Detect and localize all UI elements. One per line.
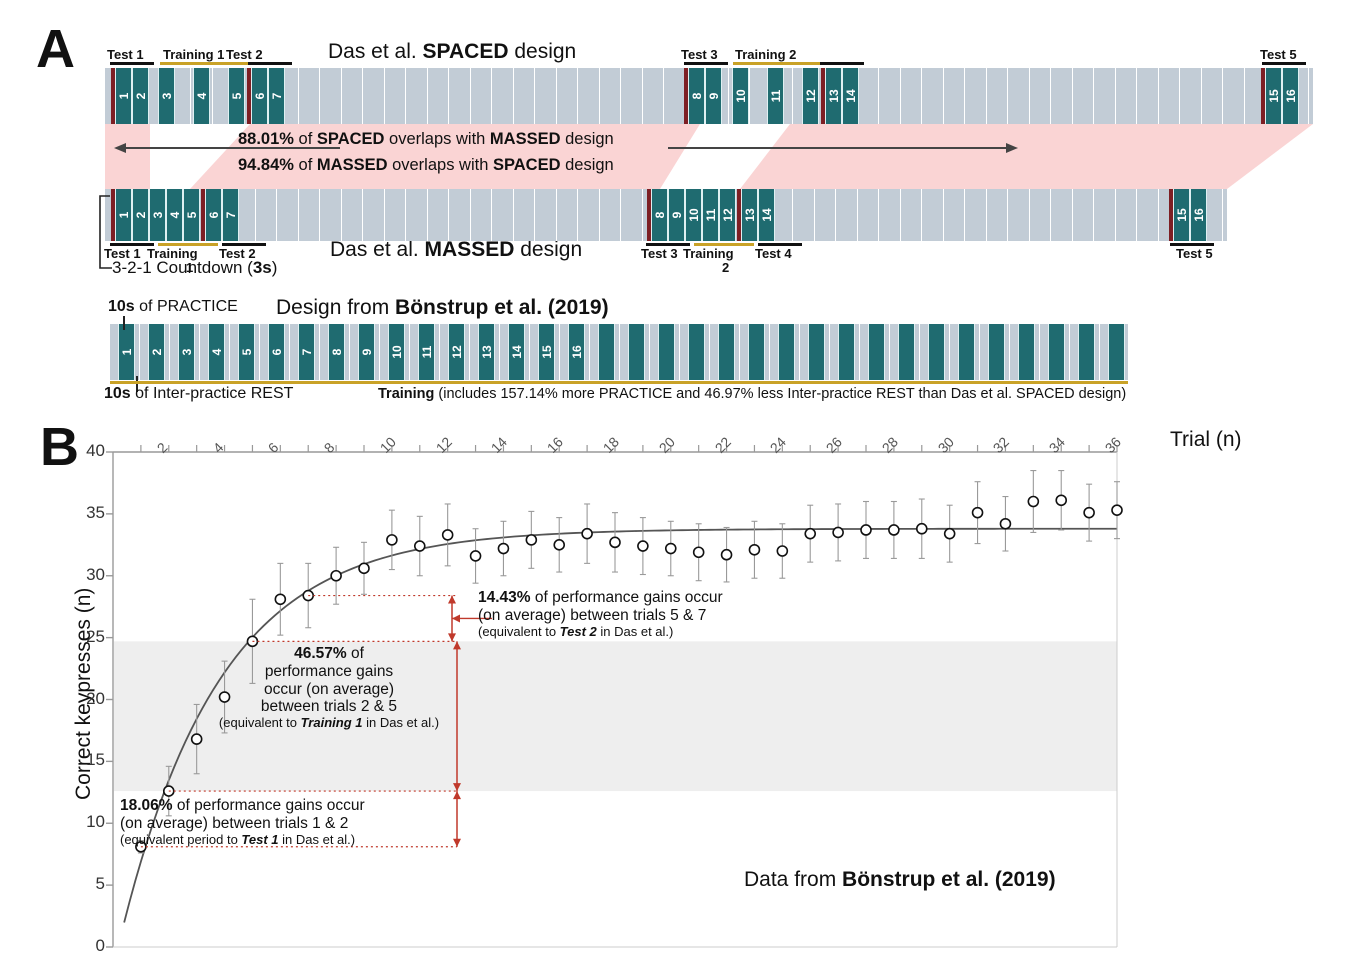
practice-block[interactable]: 1 xyxy=(115,68,132,124)
practice-block[interactable]: 4 xyxy=(166,189,183,241)
practice-block[interactable]: 1 xyxy=(115,189,132,241)
rest-slot xyxy=(514,189,536,241)
practice-block-number: 12 xyxy=(450,345,464,358)
practice-block[interactable] xyxy=(688,324,705,380)
countdown-marker xyxy=(821,68,825,124)
rest-slot xyxy=(428,68,450,124)
annotation-18-06-eq: (equivalent period to Test 1 in Das et a… xyxy=(120,833,466,848)
practice-block[interactable]: 10 xyxy=(732,68,749,124)
rest-slot xyxy=(815,189,837,241)
practice-block-number: 9 xyxy=(707,93,721,100)
rest-slot xyxy=(1116,189,1138,241)
practice-block-number: 14 xyxy=(760,208,774,221)
x-tick-label: 26 xyxy=(823,434,845,456)
practice-block-number: 11 xyxy=(420,346,434,359)
practice-block-number: 7 xyxy=(270,93,284,100)
practice-block[interactable]: 9 xyxy=(705,68,722,124)
practice-block[interactable]: 4 xyxy=(193,68,210,124)
massed-label-training-2: Training xyxy=(683,246,734,261)
overlap-pct-2: 94.84% xyxy=(238,156,294,174)
practice-block-number: 15 xyxy=(540,345,554,358)
massed-design-title: Das et al. MASSED design xyxy=(330,238,582,262)
rest-slot xyxy=(987,189,1009,241)
practice-block-number: 4 xyxy=(195,93,209,100)
practice-block[interactable]: 10 xyxy=(388,324,405,380)
practice-block-number: 16 xyxy=(1284,89,1298,102)
massed-title-suffix: design xyxy=(514,238,582,261)
x-tick-label: 34 xyxy=(1046,434,1068,456)
rest-slot xyxy=(557,189,579,241)
massed-label-test-3: Test 3 xyxy=(641,246,678,261)
spaced-training2-bar xyxy=(733,62,825,65)
x-tick-label: 28 xyxy=(879,434,901,456)
data-point[interactable] xyxy=(861,525,871,535)
practice-block[interactable]: 3 xyxy=(158,68,175,124)
rest-slot xyxy=(492,68,514,124)
data-point[interactable] xyxy=(192,734,202,744)
overlap-arrow-right-head xyxy=(1006,143,1018,153)
practice-block[interactable]: 5 xyxy=(183,189,200,241)
massed-label-test-1: Test 1 xyxy=(104,246,141,261)
x-tick-label: 36 xyxy=(1102,434,1124,456)
practice-block[interactable]: 15 xyxy=(1265,68,1282,124)
rest-slot xyxy=(1073,68,1095,124)
rest-slot xyxy=(858,68,880,124)
arrow-14-43-leader-head xyxy=(452,614,460,622)
practice-block[interactable] xyxy=(1018,324,1035,380)
rest-slot xyxy=(535,189,557,241)
practice-block[interactable]: 16 xyxy=(1282,68,1299,124)
practice-block[interactable]: 16 xyxy=(1190,189,1207,241)
spaced-title-prefix: Das et al. xyxy=(328,40,423,63)
overlap-pct-1: 88.01% xyxy=(238,130,294,148)
rest-slot xyxy=(1051,189,1073,241)
data-point[interactable] xyxy=(1112,505,1122,515)
data-point[interactable] xyxy=(498,544,508,554)
training-note: Training (includes 157.14% more PRACTICE… xyxy=(378,386,1126,402)
rest-slot xyxy=(256,189,278,241)
practice-block[interactable]: 5 xyxy=(238,324,255,380)
practice-block[interactable]: 5 xyxy=(228,68,245,124)
practice-block-number: 15 xyxy=(1267,89,1281,102)
practice-block-number: 13 xyxy=(743,208,757,221)
rest-slot xyxy=(1094,68,1116,124)
practice-block[interactable] xyxy=(628,324,645,380)
practice-block[interactable] xyxy=(838,324,855,380)
rest-slot xyxy=(428,189,450,241)
practice-block-number: 13 xyxy=(827,89,841,102)
practice-block-number: 10 xyxy=(734,89,748,102)
annotation-46-57-line2: performance gains xyxy=(196,663,462,681)
data-point[interactable] xyxy=(833,527,843,537)
practice-block[interactable]: 13 xyxy=(478,324,495,380)
x-tick-label: 10 xyxy=(377,434,399,456)
rest-slot xyxy=(471,189,493,241)
annotation-46-57-line3: occur (on average) xyxy=(196,681,462,699)
rest-slot xyxy=(1030,68,1052,124)
rest-slot xyxy=(1137,189,1159,241)
data-point[interactable] xyxy=(610,537,620,547)
x-tick-label: 8 xyxy=(321,439,338,456)
rest-slot xyxy=(342,68,364,124)
practice-block[interactable]: 12 xyxy=(719,189,736,241)
data-point[interactable] xyxy=(526,535,536,545)
x-tick-label: 16 xyxy=(544,434,566,456)
x-tick-label: 32 xyxy=(990,434,1012,456)
x-tick-label: 30 xyxy=(934,434,956,456)
rest-slot xyxy=(944,68,966,124)
data-point[interactable] xyxy=(331,571,341,581)
practice-block-number: 3 xyxy=(151,212,165,219)
rest-slot xyxy=(793,189,815,241)
practice-block-number: 4 xyxy=(210,349,224,356)
rest-slot xyxy=(901,189,923,241)
practice-block[interactable]: 11 xyxy=(702,189,719,241)
y-tick-label: 15 xyxy=(61,750,105,770)
rest-slot xyxy=(363,68,385,124)
massed-title-prefix: Das et al. xyxy=(330,238,425,261)
y-tick-label: 30 xyxy=(61,565,105,585)
rest-slot xyxy=(492,189,514,241)
rest-slot xyxy=(514,68,536,124)
practice-block[interactable]: 9 xyxy=(358,324,375,380)
practice-block[interactable]: 4 xyxy=(208,324,225,380)
practice-block[interactable] xyxy=(898,324,915,380)
rest-slot xyxy=(1180,68,1202,124)
rest-slot xyxy=(879,68,901,124)
y-tick-label: 20 xyxy=(61,689,105,709)
rest-slot xyxy=(535,68,557,124)
rest-slot xyxy=(965,189,987,241)
countdown-marker xyxy=(111,189,115,241)
annotation-14-43-line1: 14.43% of performance gains occur xyxy=(478,589,778,607)
panel-a-letter: A xyxy=(36,22,75,76)
rest-slot xyxy=(299,189,321,241)
data-point[interactable] xyxy=(777,546,787,556)
bonstrup-title-bold: Bönstrup et al. (2019) xyxy=(395,296,609,319)
rest-slot xyxy=(1073,189,1095,241)
overlap-text-line1: 88.01% of SPACED overlaps with MASSED de… xyxy=(238,130,614,149)
countdown-marker xyxy=(1169,189,1173,241)
spaced-label-test-1: Test 1 xyxy=(107,47,144,62)
practice-block[interactable] xyxy=(928,324,945,380)
practice-block-number: 16 xyxy=(1192,208,1206,221)
data-point[interactable] xyxy=(1028,497,1038,507)
practice-block[interactable]: 2 xyxy=(132,68,149,124)
data-point[interactable] xyxy=(582,529,592,539)
practice-block-number: 4 xyxy=(168,212,182,219)
annotation-18-06: 18.06% of performance gains occur (on av… xyxy=(120,797,466,848)
practice-block[interactable]: 3 xyxy=(178,324,195,380)
practice-block[interactable]: 15 xyxy=(1173,189,1190,241)
y-tick-label: 35 xyxy=(61,503,105,523)
data-point[interactable] xyxy=(164,786,174,796)
spaced-test1-bar xyxy=(110,62,154,65)
practice-block-number: 7 xyxy=(224,212,238,219)
massed-label-test-2: Test 2 xyxy=(219,246,256,261)
data-point[interactable] xyxy=(275,594,285,604)
practice-block-number: 10 xyxy=(390,345,404,358)
y-tick-label: 5 xyxy=(61,874,105,894)
x-tick-label: 12 xyxy=(432,434,454,456)
rest-slot xyxy=(621,68,643,124)
practice-block[interactable] xyxy=(1078,324,1095,380)
annotation-46-57-line4: between trials 2 & 5 xyxy=(196,698,462,716)
overlap-arrow-left-head xyxy=(114,143,126,153)
practice-block-number: 6 xyxy=(207,212,221,219)
practice-block[interactable]: 9 xyxy=(668,189,685,241)
practice-block[interactable] xyxy=(1048,324,1065,380)
rest-slot xyxy=(1137,68,1159,124)
practice-block[interactable]: 6 xyxy=(205,189,222,241)
data-point[interactable] xyxy=(805,529,815,539)
practice-block[interactable]: 2 xyxy=(132,189,149,241)
rest-slot xyxy=(600,189,622,241)
rest-slot xyxy=(1094,189,1116,241)
data-point[interactable] xyxy=(917,524,927,534)
practice-block-number: 2 xyxy=(134,212,148,219)
inter-practice-rest-label: 10s of Inter-practice REST xyxy=(104,385,293,403)
practice-block-number: 1 xyxy=(117,93,131,100)
rest-slot xyxy=(922,189,944,241)
rest-slot xyxy=(320,68,342,124)
practice-block-number: 11 xyxy=(704,209,718,222)
practice-block[interactable]: 8 xyxy=(328,324,345,380)
countdown-marker xyxy=(201,189,205,241)
practice-label: 10s of PRACTICE xyxy=(108,298,238,316)
practice-block-number: 12 xyxy=(721,208,735,221)
annotation-18-06-line1: 18.06% of performance gains occur xyxy=(120,797,466,815)
practice-block[interactable] xyxy=(868,324,885,380)
practice-block-number: 9 xyxy=(670,212,684,219)
rest-slot xyxy=(449,68,471,124)
rest-slot xyxy=(385,68,407,124)
practice-block[interactable]: 12 xyxy=(802,68,819,124)
y-tick-label: 0 xyxy=(61,936,105,956)
bonstrup-training-bar xyxy=(110,381,1128,384)
practice-block-number: 6 xyxy=(253,93,267,100)
practice-block[interactable]: 3 xyxy=(149,189,166,241)
practice-block[interactable] xyxy=(598,324,615,380)
practice-block-number: 1 xyxy=(120,349,134,356)
countdown-marker xyxy=(247,68,251,124)
practice-block-number: 5 xyxy=(240,349,254,356)
practice-block[interactable]: 14 xyxy=(842,68,859,124)
y-tick-label: 25 xyxy=(61,627,105,647)
practice-block[interactable] xyxy=(718,324,735,380)
practice-block[interactable]: 7 xyxy=(222,189,239,241)
practice-block-number: 8 xyxy=(330,349,344,356)
spaced-title-suffix: design xyxy=(509,40,577,63)
practice-block[interactable]: 14 xyxy=(508,324,525,380)
rest-slot xyxy=(1008,68,1030,124)
annotation-46-57: 46.57% of performance gains occur (on av… xyxy=(196,645,462,731)
data-point[interactable] xyxy=(1000,519,1010,529)
practice-block[interactable] xyxy=(988,324,1005,380)
rest-slot xyxy=(1008,189,1030,241)
data-point[interactable] xyxy=(722,550,732,560)
data-point[interactable] xyxy=(749,545,759,555)
overlap-text-line2: 94.84% of MASSED overlaps with SPACED de… xyxy=(238,156,614,175)
data-point[interactable] xyxy=(889,525,899,535)
annotation-14-43-line2: (on average) between trials 5 & 7 xyxy=(478,607,778,625)
rest-slot xyxy=(1309,68,1313,124)
rest-slot xyxy=(449,189,471,241)
rest-slot xyxy=(965,68,987,124)
annotation-46-57-eq: (equivalent to Training 1 in Das et al.) xyxy=(196,716,462,731)
practice-block[interactable]: 7 xyxy=(298,324,315,380)
practice-block[interactable]: 13 xyxy=(825,68,842,124)
spaced-design-row: 12345678910111213141516 xyxy=(105,68,1313,124)
spaced-label-training-2: Training 2 xyxy=(735,47,796,62)
bonstrup-title-prefix: Design from xyxy=(276,296,395,319)
data-point[interactable] xyxy=(471,551,481,561)
countdown-marker xyxy=(1261,68,1265,124)
overlap-notch xyxy=(150,124,250,189)
data-point[interactable] xyxy=(443,530,453,540)
countdown-label: 3-2-1 Countdown (3s) xyxy=(112,258,277,278)
data-point[interactable] xyxy=(638,541,648,551)
annotation-14-43-eq: (equivalent to Test 2 in Das et al.) xyxy=(478,625,778,640)
data-point[interactable] xyxy=(1056,495,1066,505)
practice-block[interactable]: 6 xyxy=(251,68,268,124)
practice-block-number: 12 xyxy=(804,89,818,102)
practice-block-number: 14 xyxy=(510,345,524,358)
bonstrup-design-title: Design from Bönstrup et al. (2019) xyxy=(276,296,609,320)
panel-b-credit: Data from Bönstrup et al. (2019) xyxy=(744,868,1056,892)
x-tick-label: 20 xyxy=(655,434,677,456)
practice-block-number: 5 xyxy=(185,212,199,219)
overlap-notch2 xyxy=(660,124,790,189)
rest-slot xyxy=(987,68,1009,124)
practice-block[interactable]: 10 xyxy=(685,189,702,241)
practice-block[interactable] xyxy=(658,324,675,380)
practice-block-number: 10 xyxy=(687,208,701,221)
massed-label-test-4: Test 4 xyxy=(755,246,792,261)
practice-block-number: 3 xyxy=(180,349,194,356)
rest-slot xyxy=(1030,189,1052,241)
practice-block[interactable]: 16 xyxy=(568,324,585,380)
data-point[interactable] xyxy=(1084,508,1094,518)
data-point[interactable] xyxy=(303,591,313,601)
countdown-marker xyxy=(111,68,115,124)
practice-block[interactable]: 6 xyxy=(268,324,285,380)
rest-slot xyxy=(299,68,321,124)
massed-label-training-2-num: 2 xyxy=(722,260,729,275)
x-tick-label: 22 xyxy=(711,434,733,456)
rest-slot xyxy=(901,68,923,124)
spaced-label-test-3: Test 3 xyxy=(681,47,718,62)
practice-block[interactable] xyxy=(958,324,975,380)
practice-block[interactable]: 11 xyxy=(418,324,435,380)
data-point[interactable] xyxy=(359,563,369,573)
rest-slot xyxy=(836,189,858,241)
rest-slot xyxy=(363,189,385,241)
rest-slot xyxy=(879,189,901,241)
practice-block[interactable]: 13 xyxy=(741,189,758,241)
rest-slot xyxy=(1223,68,1245,124)
practice-block-number: 15 xyxy=(1175,208,1189,221)
rest-slot xyxy=(1223,189,1227,241)
data-point[interactable] xyxy=(973,508,983,518)
arrow-46-57-head-bottom xyxy=(453,783,461,791)
rest-slot xyxy=(342,189,364,241)
x-axis-title: Trial (n) xyxy=(1170,428,1242,452)
practice-block-number: 8 xyxy=(690,93,704,100)
rest-slot xyxy=(643,68,665,124)
spaced-label-test-2: Test 2 xyxy=(226,47,263,62)
rest-slot xyxy=(600,68,622,124)
spaced-title-bold: SPACED xyxy=(423,40,509,63)
massed-label-training-1-num: 1 xyxy=(186,260,193,275)
massed-label-test-5: Test 5 xyxy=(1176,246,1213,261)
annotation-14-43: 14.43% of performance gains occur (on av… xyxy=(478,589,778,640)
y-tick-label: 40 xyxy=(61,441,105,461)
data-point[interactable] xyxy=(415,541,425,551)
spaced-test3-bar xyxy=(684,62,728,65)
practice-block[interactable]: 12 xyxy=(448,324,465,380)
practice-block-number: 3 xyxy=(160,93,174,100)
countdown-marker xyxy=(737,189,741,241)
rest-slot xyxy=(1051,68,1073,124)
practice-block[interactable]: 8 xyxy=(688,68,705,124)
rest-slot xyxy=(406,68,428,124)
data-point[interactable] xyxy=(694,547,704,557)
practice-block-number: 8 xyxy=(653,212,667,219)
spaced-test5-bar xyxy=(1262,62,1306,65)
rest-slot xyxy=(858,189,880,241)
arrow-14-43-head-bottom xyxy=(448,633,456,641)
practice-block-number: 16 xyxy=(570,345,584,358)
practice-block[interactable] xyxy=(808,324,825,380)
spaced-label-test-5: Test 5 xyxy=(1260,47,1297,62)
data-point[interactable] xyxy=(387,535,397,545)
practice-block[interactable]: 14 xyxy=(758,189,775,241)
spaced-test3b-bar xyxy=(820,62,864,65)
x-tick-label: 2 xyxy=(153,439,170,456)
countdown-marker xyxy=(647,189,651,241)
practice-block[interactable] xyxy=(748,324,765,380)
arrow-14-43-head-top xyxy=(448,596,456,604)
practice-block[interactable]: 15 xyxy=(538,324,555,380)
practice-block[interactable]: 11 xyxy=(767,68,784,124)
practice-block[interactable]: 8 xyxy=(651,189,668,241)
rest-slot xyxy=(385,189,407,241)
rest-slot xyxy=(1116,68,1138,124)
data-point[interactable] xyxy=(666,544,676,554)
practice-block[interactable]: 1 xyxy=(118,324,135,380)
rest-slot xyxy=(320,189,342,241)
countdown-marker xyxy=(684,68,688,124)
practice-block-number: 1 xyxy=(117,212,131,219)
spaced-test2-bar xyxy=(248,62,292,65)
practice-block[interactable]: 2 xyxy=(148,324,165,380)
practice-block-number: 5 xyxy=(230,93,244,100)
practice-block[interactable]: 7 xyxy=(268,68,285,124)
data-point[interactable] xyxy=(945,529,955,539)
massed-title-bold: MASSED xyxy=(425,238,515,261)
data-point[interactable] xyxy=(554,540,564,550)
practice-block[interactable] xyxy=(778,324,795,380)
rest-slot xyxy=(922,68,944,124)
rest-slot xyxy=(406,189,428,241)
practice-block[interactable] xyxy=(1108,324,1125,380)
rest-slot xyxy=(1159,68,1181,124)
practice-block-number: 9 xyxy=(360,349,374,356)
practice-block-number: 2 xyxy=(150,349,164,356)
practice-block-number: 11 xyxy=(769,90,783,103)
spaced-label-training-1: Training 1 xyxy=(163,47,224,62)
